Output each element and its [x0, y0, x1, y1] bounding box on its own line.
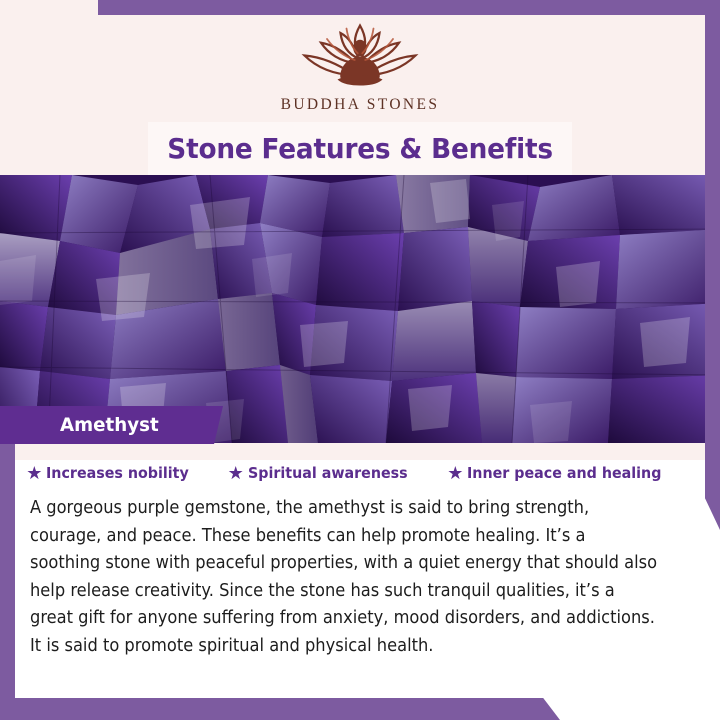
stone-feature-card: BUDDHA STONES Stone Features & Benefits	[0, 0, 720, 720]
frame-border-bottom	[0, 698, 560, 720]
benefit-label: Increases nobility	[46, 464, 189, 482]
stone-description: A gorgeous purple gemstone, the amethyst…	[30, 495, 658, 660]
frame-border-right	[705, 0, 720, 530]
star-icon: ★	[228, 464, 244, 482]
lotus-meditation-icon	[285, 18, 435, 90]
content-panel: ★ Increases nobility ★ Spiritual awarene…	[15, 443, 720, 720]
benefits-list: ★ Increases nobility ★ Spiritual awarene…	[15, 464, 690, 482]
stone-name: Amethyst	[60, 414, 159, 436]
title-banner: Stone Features & Benefits	[148, 122, 572, 175]
frame-border-top	[98, 0, 720, 15]
star-icon: ★	[447, 464, 463, 482]
amethyst-crystal-graphic	[0, 175, 720, 443]
hero-image	[0, 175, 720, 443]
benefit-label: Spiritual awareness	[248, 464, 408, 482]
content-top-tint	[15, 443, 705, 460]
benefit-label: Inner peace and healing	[467, 464, 661, 482]
benefit-item: ★ Inner peace and healing	[447, 464, 678, 482]
stone-name-banner: Amethyst	[0, 406, 223, 444]
brand-name: BUDDHA STONES	[281, 96, 440, 114]
page-title: Stone Features & Benefits	[167, 132, 553, 165]
benefit-item: ★ Spiritual awareness	[228, 464, 422, 482]
star-icon: ★	[26, 464, 42, 482]
benefit-item: ★ Increases nobility	[26, 464, 201, 482]
brand-logo: BUDDHA STONES	[0, 18, 720, 114]
frame-border-left	[0, 443, 15, 720]
